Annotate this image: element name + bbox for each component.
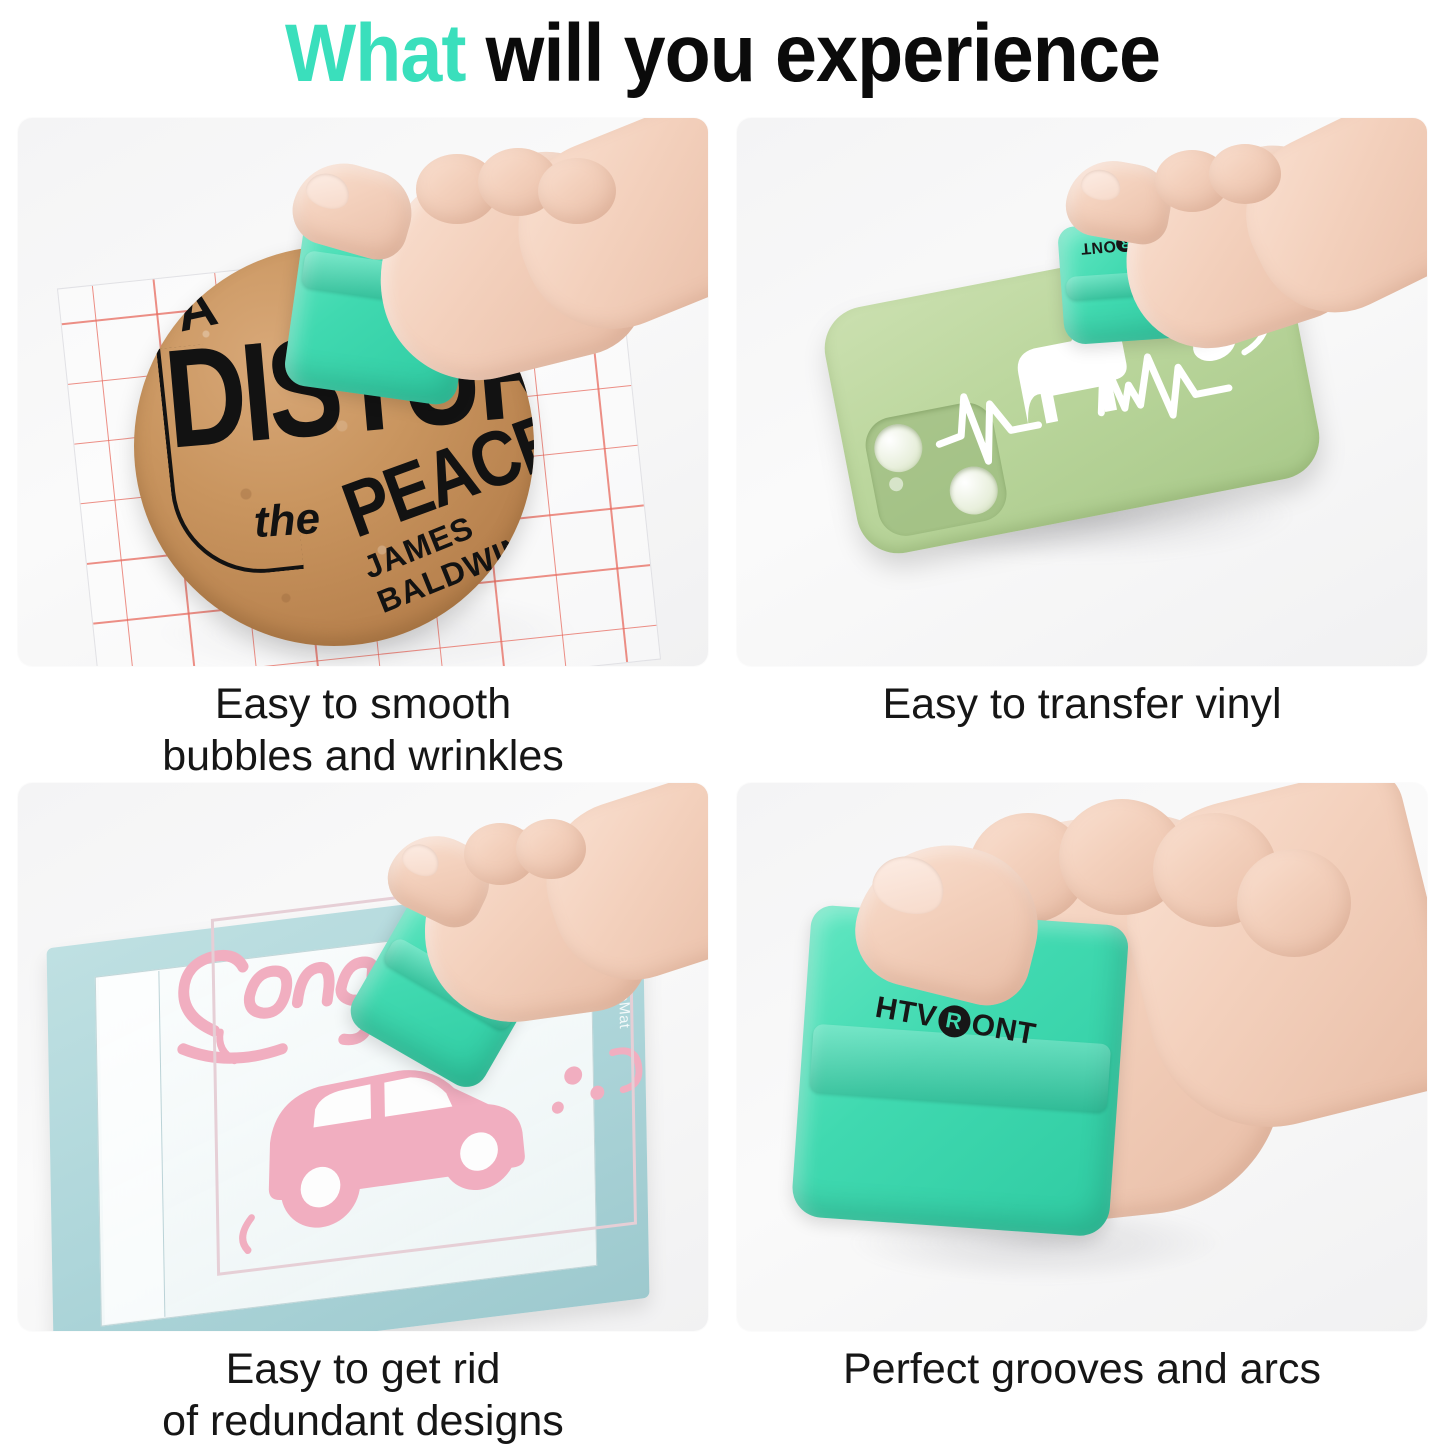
feature-panel-grooves-arcs: HTVRONT Perfect grooves and arcs (737, 783, 1427, 1331)
caption-line-1: Easy to get rid (18, 1343, 708, 1395)
caption-line-1: Perfect grooves and arcs (737, 1343, 1427, 1395)
photo-grooves-arcs: HTVRONT (737, 783, 1427, 1331)
page-title-accent: What (285, 8, 466, 99)
panel-caption-smooth-bubbles: Easy to smooth bubbles and wrinkles (18, 678, 708, 782)
feature-panel-smooth-bubbles: A DISTURB the PEACE JAMES BALDWIN HTVRON… (18, 118, 708, 666)
panel-caption-transfer-vinyl: Easy to transfer vinyl (737, 678, 1427, 730)
photo-smooth-bubbles: A DISTURB the PEACE JAMES BALDWIN HTVRON… (18, 118, 708, 666)
brand-mark-r: R (935, 1003, 972, 1040)
coaster-text-line3: the (252, 494, 321, 548)
panel-caption-grooves-arcs: Perfect grooves and arcs (737, 1343, 1427, 1395)
panel-caption-remove-designs: Easy to get rid of redundant designs (18, 1343, 708, 1447)
feature-panel-remove-designs: CaroMat (18, 783, 708, 1331)
caption-line-1: Easy to transfer vinyl (737, 678, 1427, 730)
page-title: What will you experience (58, 6, 1387, 102)
page-title-rest: will you experience (466, 8, 1160, 99)
feature-panel-transfer-vinyl: HTVRONT Easy to transfer vinyl (737, 118, 1427, 666)
photo-transfer-vinyl: HTVRONT (737, 118, 1427, 666)
feature-grid: A DISTURB the PEACE JAMES BALDWIN HTVRON… (18, 118, 1427, 1440)
caption-line-2: of redundant designs (18, 1395, 708, 1447)
caption-line-1: Easy to smooth (18, 678, 708, 730)
photo-remove-designs: CaroMat (18, 783, 708, 1331)
caption-line-2: bubbles and wrinkles (18, 730, 708, 782)
